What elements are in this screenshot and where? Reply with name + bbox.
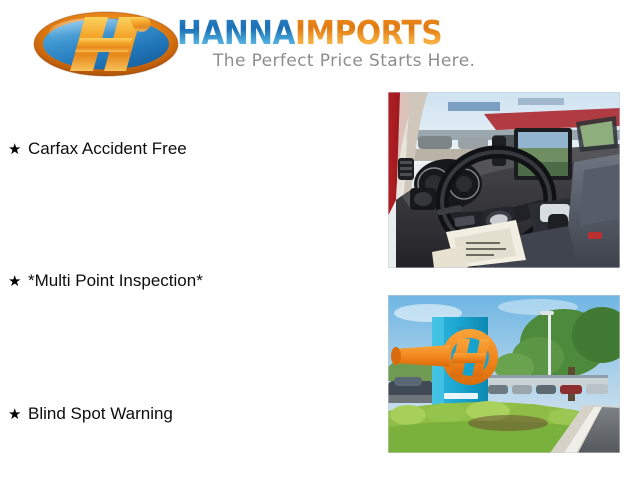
feature-label: Blind Spot Warning (28, 404, 173, 424)
hanna-h-oval-emblem-icon (33, 11, 179, 77)
list-item: ★ Blind Spot Warning (8, 404, 173, 424)
vehicle-interior-photo[interactable] (388, 92, 620, 268)
feature-label: *Multi Point Inspection* (28, 271, 203, 291)
list-item: ★ Carfax Accident Free (8, 139, 187, 159)
star-bullet-icon: ★ (8, 142, 28, 157)
dealership-sign-photo[interactable] (388, 295, 620, 453)
listing-feature-slide: HANNAIMPORTS The Perfect Price Starts He… (0, 0, 640, 480)
wordmark-hanna: HANNA (177, 13, 295, 52)
brand-wordmark: HANNAIMPORTS (177, 16, 442, 50)
wordmark-imports: IMPORTS (295, 13, 442, 52)
list-item: ★ *Multi Point Inspection* (8, 271, 203, 291)
star-bullet-icon: ★ (8, 407, 28, 422)
brand-tagline: The Perfect Price Starts Here. (213, 51, 475, 71)
brand-header: HANNAIMPORTS The Perfect Price Starts He… (0, 0, 640, 88)
star-bullet-icon: ★ (8, 274, 28, 289)
feature-label: Carfax Accident Free (28, 139, 187, 159)
